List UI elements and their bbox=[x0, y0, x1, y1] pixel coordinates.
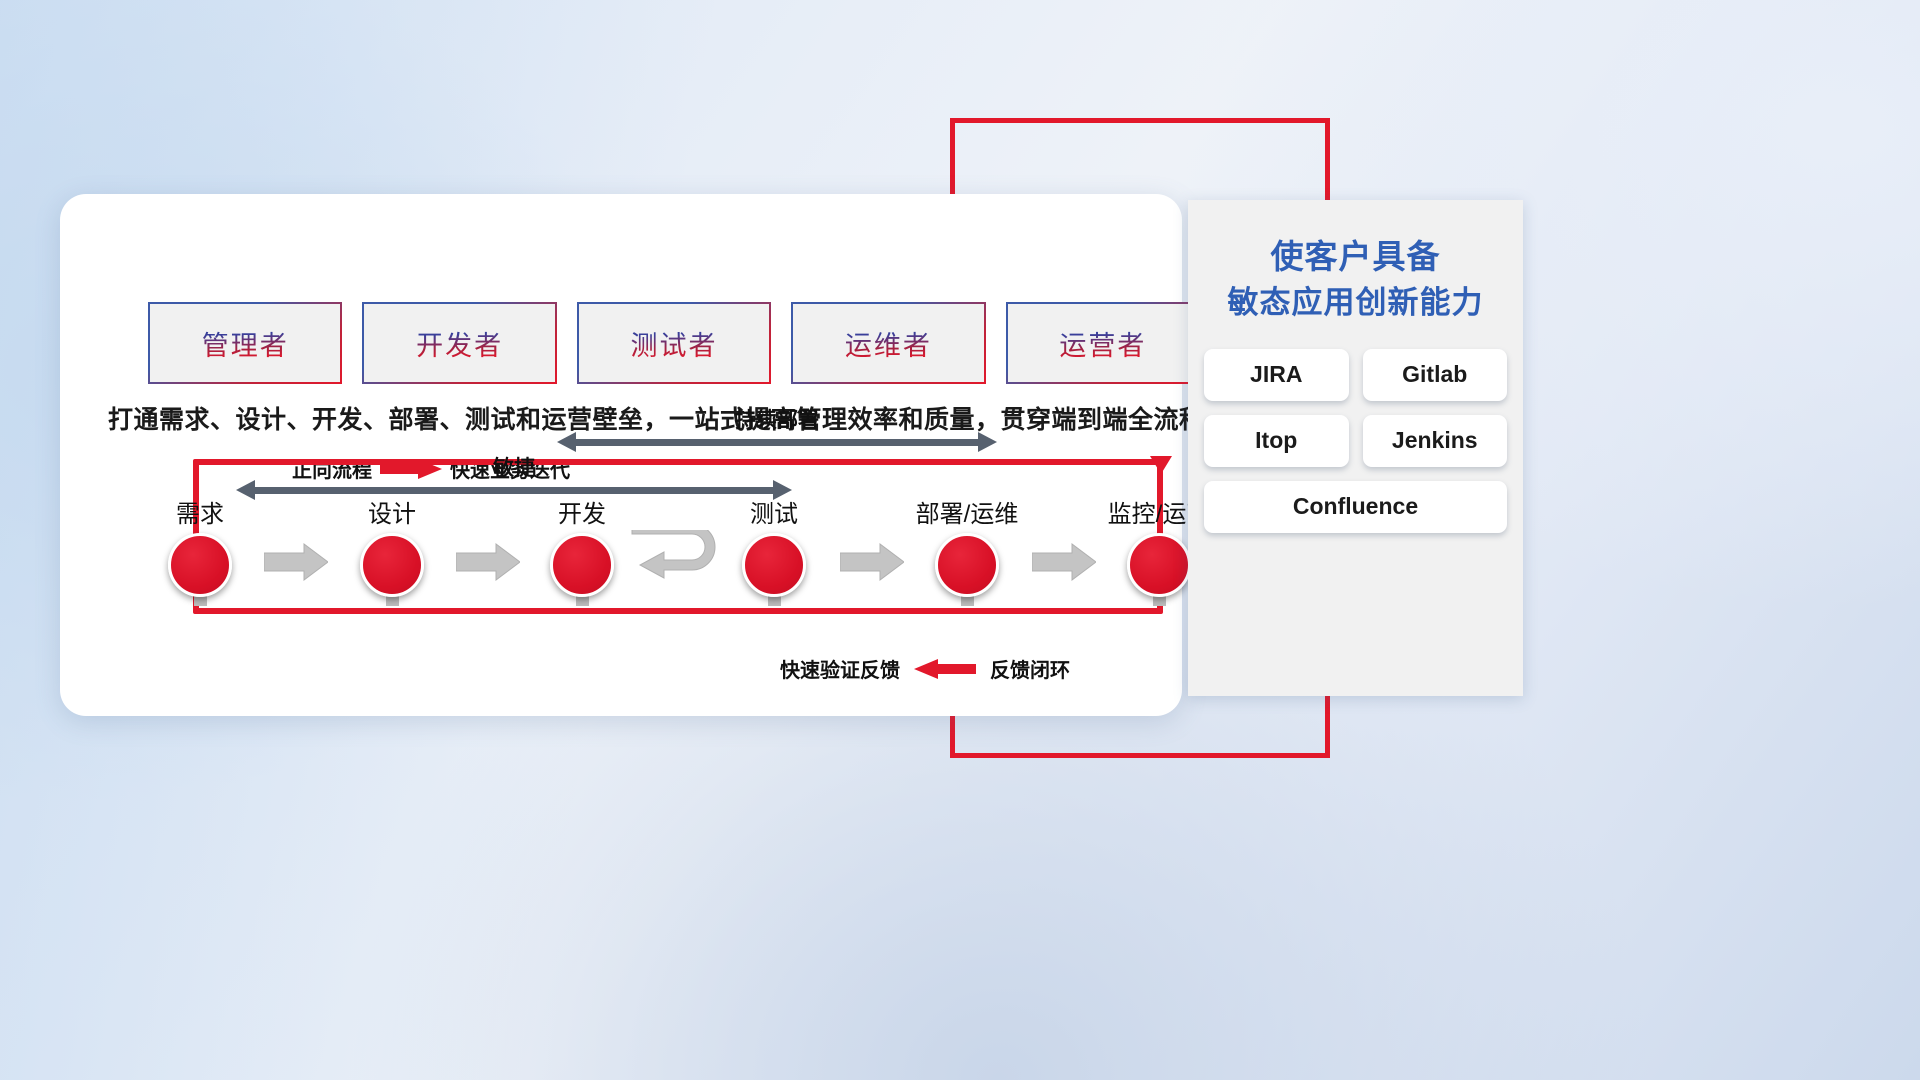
chevron-deploy-to-monitor bbox=[1032, 542, 1096, 582]
pipeline-node-deploy[interactable]: 部署/运维 bbox=[907, 494, 1027, 597]
role-box-tester[interactable]: 测试者 bbox=[579, 304, 769, 382]
red-left-arrow-icon bbox=[914, 659, 976, 679]
pipeline-node-design[interactable]: 设计 bbox=[332, 494, 452, 597]
main-card: 管理者 开发者 测试者 运维者 运营者 打通需求、设计、开发、部署、测试和运营壁… bbox=[60, 194, 1182, 716]
tool-gitlab[interactable]: Gitlab bbox=[1363, 349, 1508, 401]
bidirectional-uturn-arrow-icon bbox=[630, 530, 726, 592]
node-label: 设计 bbox=[332, 494, 452, 529]
role-label: 管理者 bbox=[202, 324, 289, 363]
arrow-shaft bbox=[253, 487, 775, 494]
role-label: 测试者 bbox=[631, 324, 718, 363]
role-label: 运维者 bbox=[845, 324, 932, 363]
role-label: 开发者 bbox=[416, 324, 503, 363]
continuous-deployment-label: 持续部署 bbox=[557, 404, 997, 434]
feedback-label-right: 反馈闭环 bbox=[990, 654, 1070, 683]
tool-jenkins[interactable]: Jenkins bbox=[1363, 415, 1508, 467]
arrow-head-right-icon bbox=[978, 432, 997, 452]
node-label: 部署/运维 bbox=[907, 494, 1027, 529]
continuous-deployment-arrow: 持续部署 bbox=[557, 436, 997, 449]
role-box-manager[interactable]: 管理者 bbox=[150, 304, 340, 382]
node-dot bbox=[1127, 533, 1191, 597]
pipeline-node-develop[interactable]: 开发 bbox=[522, 494, 642, 597]
node-dot bbox=[935, 533, 999, 597]
chevron-requirement-to-design bbox=[264, 542, 328, 582]
tool-jira[interactable]: JIRA bbox=[1204, 349, 1349, 401]
panel-title-line1: 使客户具备 bbox=[1188, 234, 1523, 281]
chevron-test-to-deploy bbox=[840, 542, 904, 582]
role-box-developer[interactable]: 开发者 bbox=[364, 304, 554, 382]
node-label: 测试 bbox=[714, 494, 834, 529]
chevron-design-to-develop bbox=[456, 542, 520, 582]
node-dot bbox=[168, 533, 232, 597]
role-box-ops[interactable]: 运维者 bbox=[793, 304, 983, 382]
panel-title: 使客户具备 敏态应用创新能力 bbox=[1188, 200, 1523, 325]
role-box-operator[interactable]: 运营者 bbox=[1008, 304, 1198, 382]
tool-list: JIRA Gitlab Itop Jenkins Confluence bbox=[1204, 349, 1507, 533]
node-dot bbox=[550, 533, 614, 597]
tool-itop[interactable]: Itop bbox=[1204, 415, 1349, 467]
agile-label: 敏捷 bbox=[236, 452, 792, 482]
node-dot bbox=[360, 533, 424, 597]
pipeline-node-test[interactable]: 测试 bbox=[714, 494, 834, 597]
node-label: 开发 bbox=[522, 494, 642, 529]
red-frame-top bbox=[950, 118, 1330, 123]
feedback-legend: 快速验证反馈 反馈闭环 bbox=[780, 654, 1070, 683]
panel-title-line2: 敏态应用创新能力 bbox=[1188, 281, 1523, 325]
node-label: 需求 bbox=[140, 494, 260, 529]
pipeline-node-requirement[interactable]: 需求 bbox=[140, 494, 260, 597]
node-dot bbox=[742, 533, 806, 597]
loop-arrow-down-icon bbox=[1150, 456, 1172, 474]
role-box-row: 管理者 开发者 测试者 运维者 运营者 bbox=[150, 304, 1198, 382]
red-frame-bottom bbox=[950, 753, 1330, 758]
capability-panel: 使客户具备 敏态应用创新能力 JIRA Gitlab Itop Jenkins … bbox=[1188, 200, 1523, 696]
role-label: 运营者 bbox=[1059, 324, 1146, 363]
arrow-shaft bbox=[574, 439, 980, 446]
tool-confluence[interactable]: Confluence bbox=[1204, 481, 1507, 533]
agile-arrow: 敏捷 bbox=[236, 484, 792, 497]
feedback-label-left: 快速验证反馈 bbox=[780, 654, 900, 683]
